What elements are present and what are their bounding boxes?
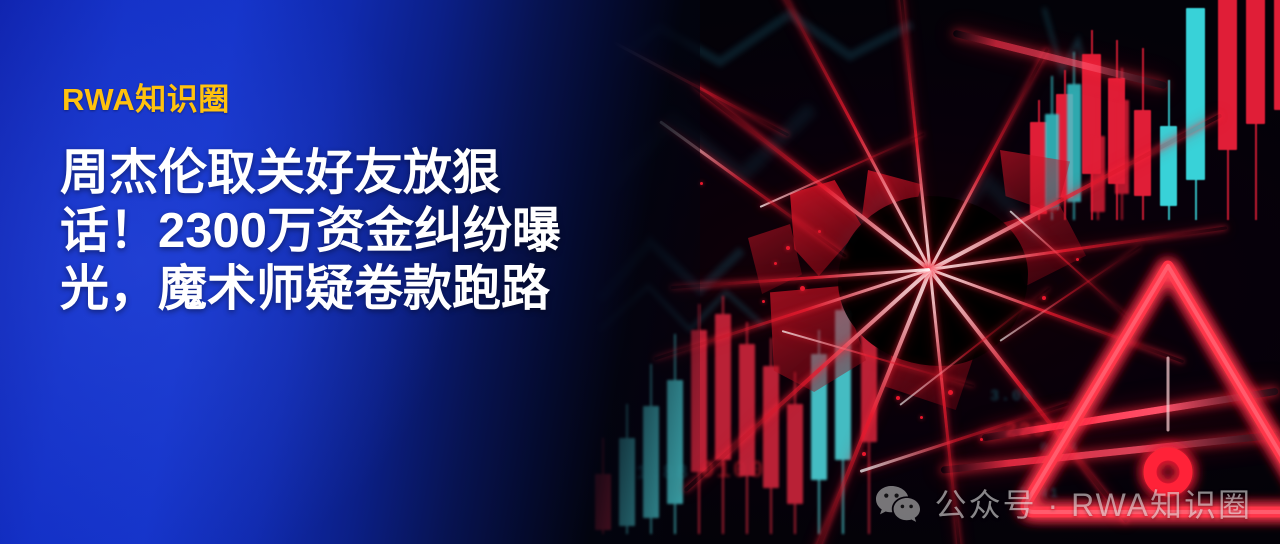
- wechat-icon: [875, 484, 921, 522]
- news-banner: 1.88 0100 3.06 -2.41 223 0.74: [0, 0, 1280, 544]
- glass-speck: [800, 286, 805, 291]
- glass-shard: [1000, 150, 1070, 214]
- glass-speck: [774, 262, 777, 265]
- glass-speck: [920, 416, 923, 419]
- watermark: 公众号 · RWA知识圈: [875, 480, 1252, 526]
- headline-title: 周杰伦取关好友放狠 话！2300万资金纠纷曝 光，魔术师疑卷款跑路: [60, 144, 620, 318]
- glass-speck: [896, 396, 900, 400]
- watermark-text: 公众号 · RWA知识圈: [935, 480, 1252, 526]
- glass-speck: [700, 182, 703, 185]
- glass-speck: [762, 300, 765, 303]
- headline-line-2: 话！2300万资金纠纷曝: [60, 202, 620, 260]
- glass-speck: [862, 452, 866, 456]
- headline-line-3: 光，魔术师疑卷款跑路: [60, 260, 620, 318]
- glass-speck: [786, 246, 790, 250]
- brand-logo: RWA知识圈: [62, 74, 230, 119]
- glass-speck: [948, 390, 953, 395]
- headline-line-1: 周杰伦取关好友放狠: [60, 144, 620, 202]
- glass-speck: [818, 230, 821, 233]
